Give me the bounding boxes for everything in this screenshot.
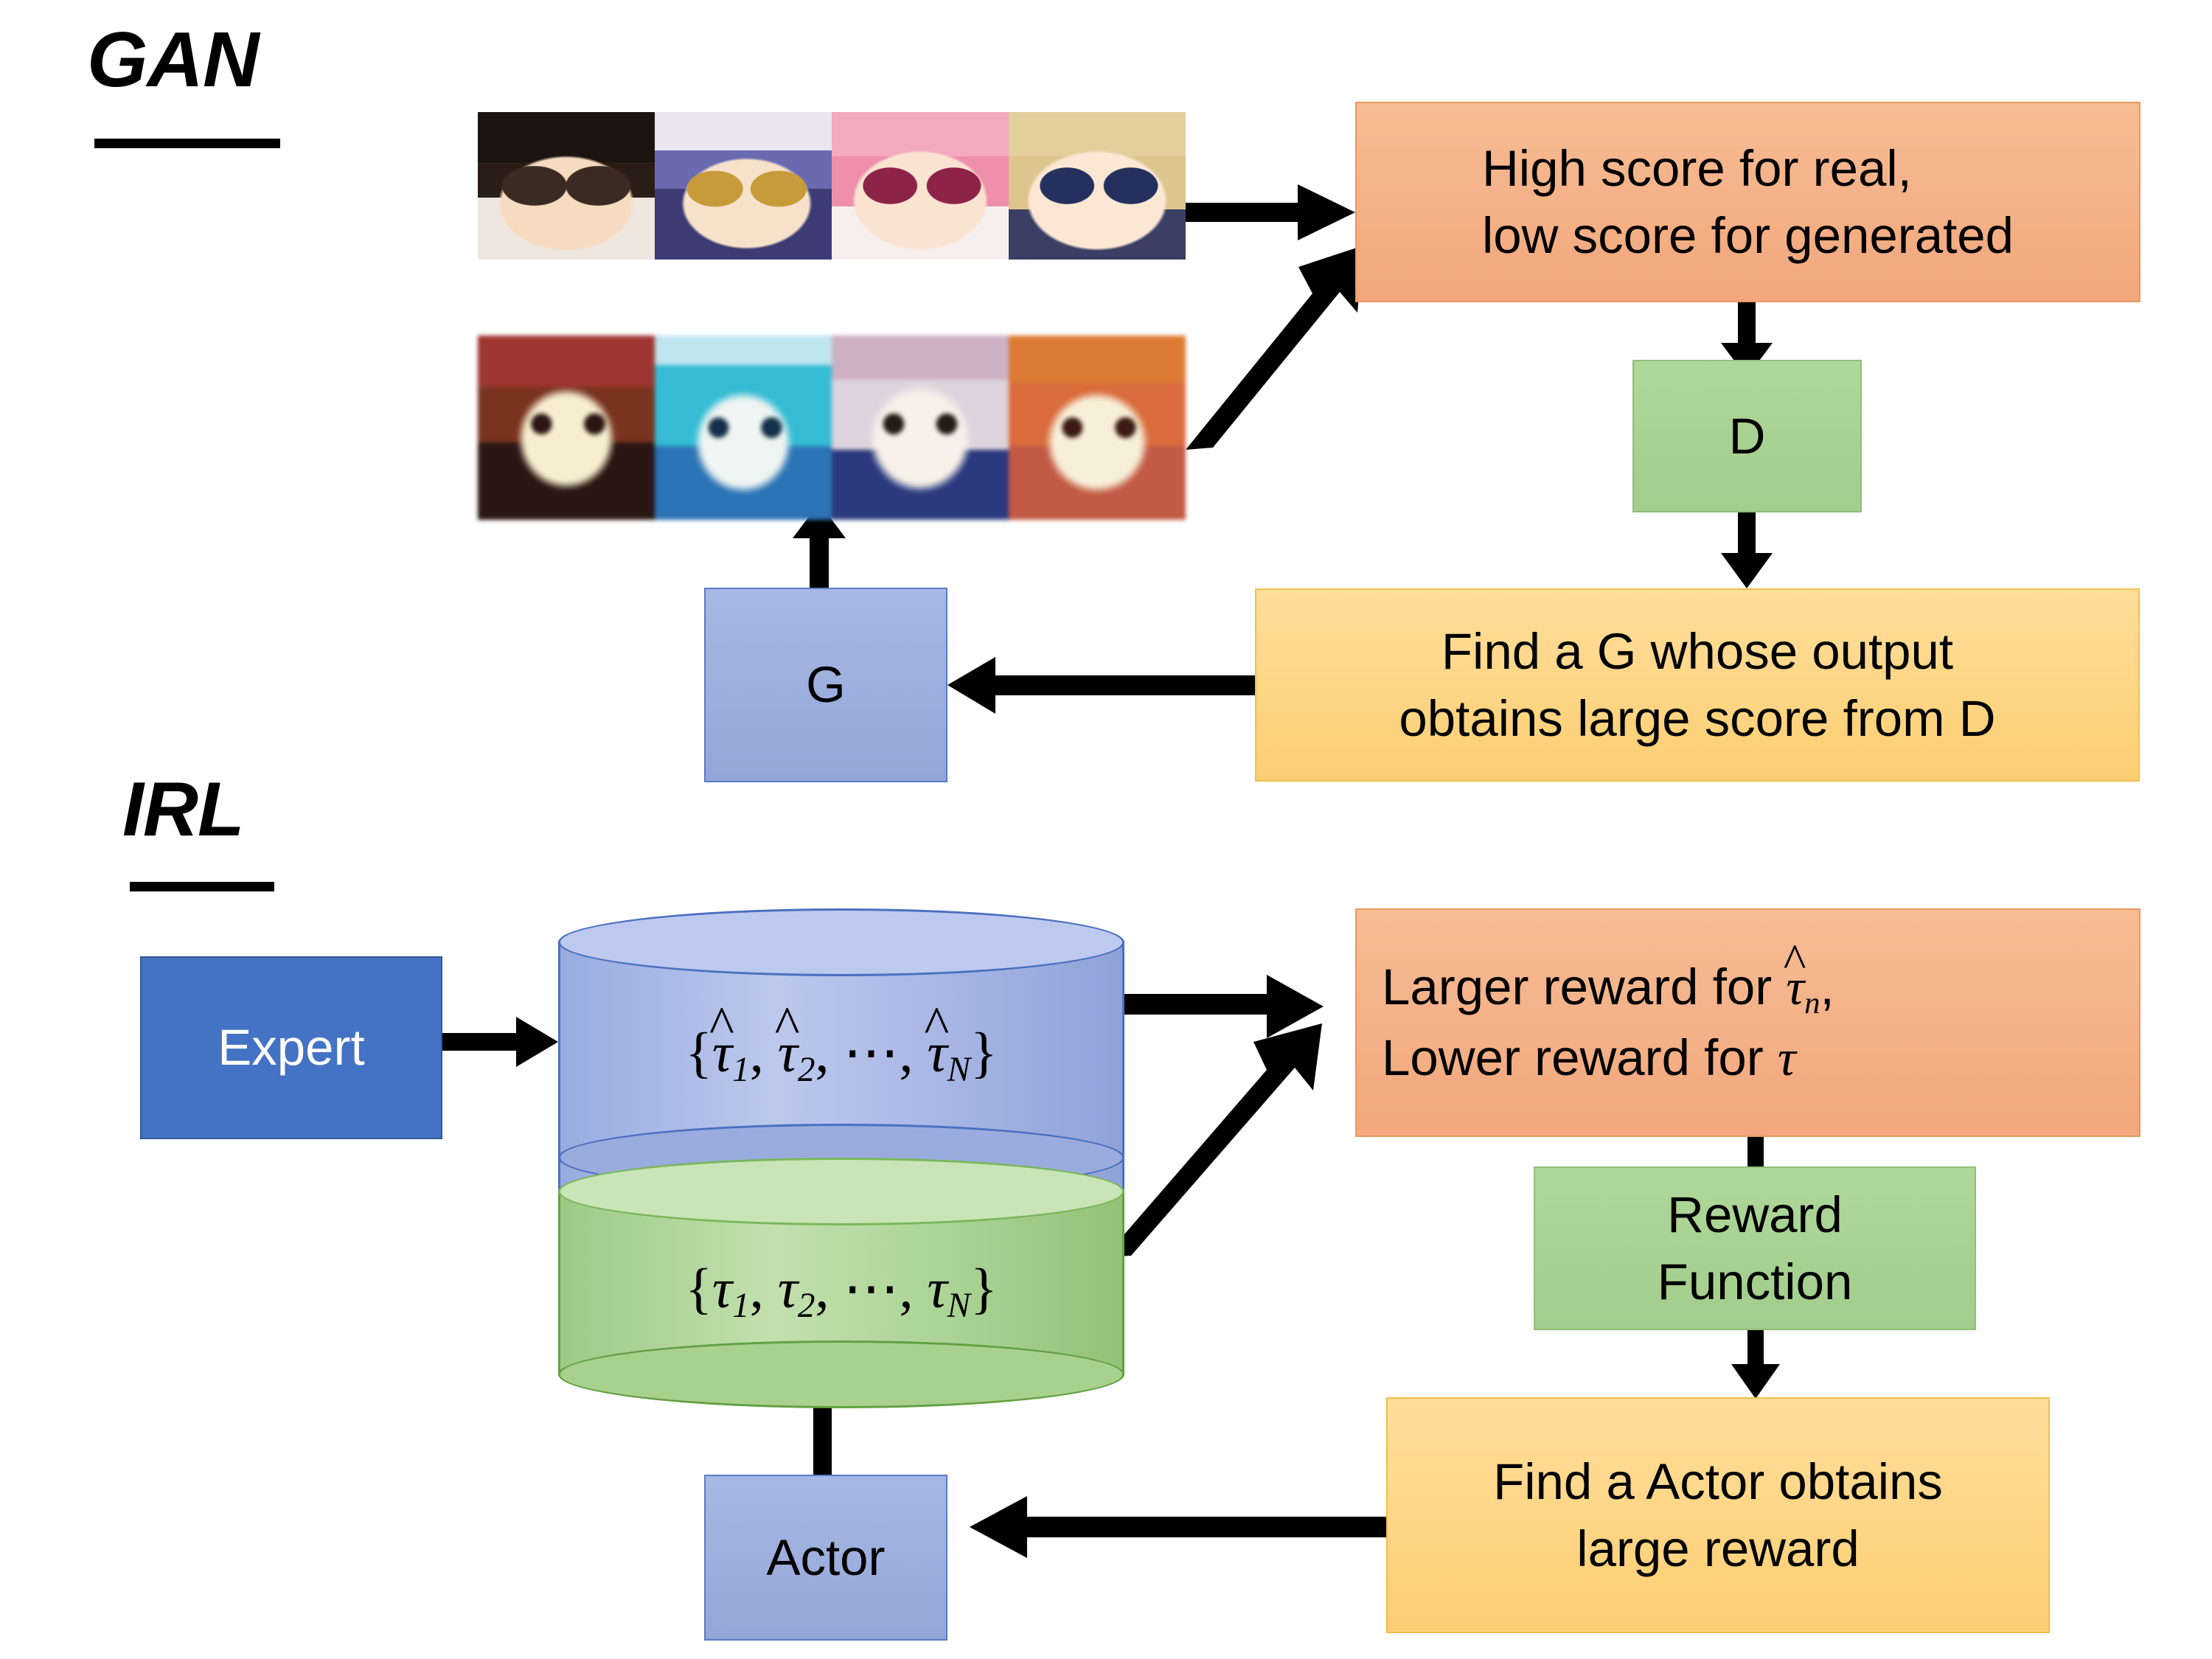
gan-section-title: GAN (87, 21, 259, 99)
gan-title-underline (94, 139, 280, 148)
generator-box: G (704, 588, 947, 782)
actor-box: Actor (704, 1475, 947, 1641)
generator-objective-box: Find a G whose output obtains large scor… (1255, 588, 2140, 782)
generated-face-3 (832, 335, 1009, 520)
arrow-expert-cylinder-to-reward-objective (1123, 975, 1324, 1038)
generator-objective-line1: Find a G whose output (1399, 618, 1995, 685)
arrow-generated-to-discriminator-objective (1186, 246, 1363, 450)
reward-objective-line2: Lower reward for τ (1382, 1024, 2139, 1092)
discriminator-objective-line2: low score for generated (1482, 202, 2014, 269)
generated-face-1 (478, 335, 655, 520)
expert-trajectory-set: {^τ1, ^τ2, ⋯, ^τN} (685, 1022, 997, 1084)
arrow-actor-cylinder-to-reward-objective (1105, 1023, 1322, 1257)
actor-trajectory-label: {τ1, τ2, ⋯, τN} (558, 1255, 1124, 1326)
real-face-2 (655, 112, 832, 260)
expert-trajectory-label: {^τ1, ^τ2, ⋯, ^τN} (558, 1019, 1124, 1090)
discriminator-objective-box: High score for real, low score for gener… (1355, 102, 2140, 302)
actor-cylinder-top-ellipse (558, 1158, 1124, 1225)
arrow-reward-function-to-actor-objective (1731, 1329, 1780, 1399)
arrow-actor-objective-to-actor (970, 1496, 1402, 1558)
arrow-expert-to-expert-cylinder (440, 1017, 558, 1067)
expert-box: Expert (140, 956, 442, 1139)
generated-face-2 (655, 335, 832, 520)
irl-section-title: IRL (122, 771, 244, 848)
actor-objective-line2: large reward (1493, 1515, 1943, 1582)
real-face-3 (832, 112, 1009, 260)
expert-cylinder-top-ellipse (558, 908, 1124, 976)
actor-label: Actor (766, 1524, 885, 1591)
discriminator-objective-line1: High score for real, (1482, 135, 2014, 202)
generated-face-4 (1009, 335, 1186, 520)
arrow-real-to-discriminator-objective (1185, 184, 1355, 240)
reward-objective-line1: Larger reward for ^τn, (1382, 953, 2139, 1024)
generated-image-strip (478, 335, 1186, 520)
real-face-1 (478, 112, 655, 260)
reward-objective-line2-text: Lower reward for (1382, 1029, 1778, 1086)
arrow-d-to-generator-objective (1721, 512, 1773, 588)
actor-objective-line1: Find a Actor obtains (1493, 1448, 1943, 1515)
real-image-strip (478, 112, 1186, 260)
generator-objective-line2: obtains large score from D (1399, 685, 1995, 752)
reward-function-line2: Function (1658, 1248, 1853, 1315)
reward-function-box: Reward Function (1534, 1166, 1976, 1330)
real-face-4 (1009, 112, 1186, 260)
reward-objective-box: Larger reward for ^τn, Lower reward for … (1355, 908, 2140, 1137)
discriminator-label: D (1729, 403, 1766, 470)
reward-objective-line1-text: Larger reward for (1382, 959, 1786, 1015)
actor-objective-box: Find a Actor obtains large reward (1386, 1397, 2050, 1633)
irl-title-underline (130, 882, 274, 891)
generator-label: G (806, 651, 846, 718)
expert-label: Expert (218, 1014, 364, 1081)
actor-cylinder-bottom-ellipse (558, 1340, 1124, 1408)
discriminator-box: D (1632, 360, 1862, 512)
arrow-generator-objective-to-g (947, 657, 1255, 714)
actor-trajectory-cylinder: {τ1, τ2, ⋯, τN} (558, 1158, 1124, 1438)
diagram-canvas: GAN High score for real, low score for g… (0, 0, 2212, 1659)
actor-trajectory-set: {τ1, τ2, ⋯, τN} (685, 1258, 997, 1320)
reward-function-line1: Reward (1658, 1181, 1853, 1248)
